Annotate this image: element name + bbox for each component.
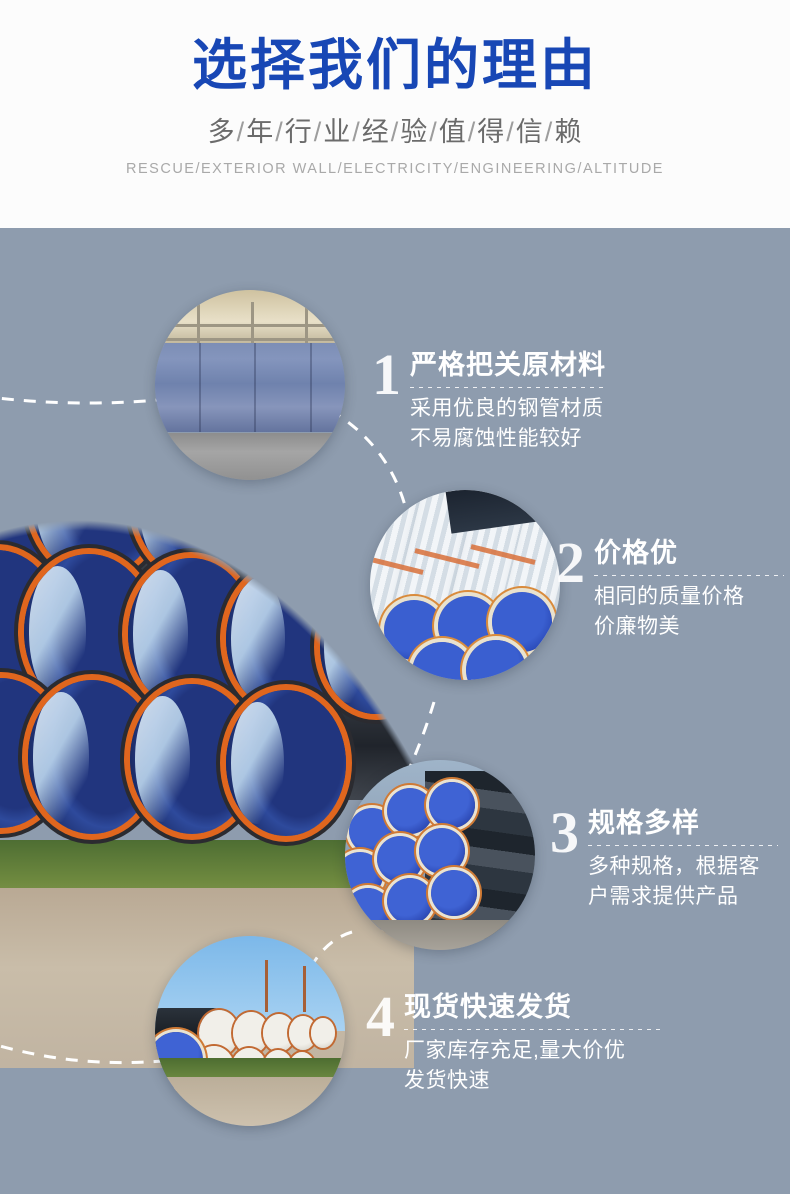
feature-image-3-content: [345, 760, 535, 950]
subtitle-char-1: 年: [246, 117, 274, 147]
subtitle-char-8: 信: [516, 117, 544, 147]
feature-block-2: 2 价格优 相同的质量价格 价廉物美: [556, 536, 790, 642]
subtitle-char-9: 赖: [554, 117, 582, 147]
feature-image-2-content: [370, 490, 560, 680]
subtitle-char-4: 经: [362, 117, 390, 147]
page-title: 选择我们的理由: [192, 34, 598, 96]
pipe-end: [387, 788, 433, 834]
feature-block-3: 3 规格多样 多种规格，根据客 户需求提供产品: [550, 806, 790, 912]
feature-desc-3-line-2: 户需求提供产品: [588, 882, 778, 912]
pipe-end: [419, 828, 465, 874]
feature-desc-2-line-1: 相同的质量价格: [594, 582, 784, 612]
steel-coil: [155, 343, 345, 432]
subtitle-char-5: 验: [400, 117, 428, 147]
warehouse-floor: [155, 433, 345, 481]
feature-image-4-content: [155, 936, 345, 1126]
feature-title-1: 严格把关原材料: [410, 350, 606, 380]
pipe-end: [387, 878, 433, 924]
subtitle-char-2: 行: [285, 117, 313, 147]
feature-desc-4-line-1: 厂家库存充足,量大价优: [404, 1036, 662, 1066]
subtitle-sep-6: /: [467, 117, 478, 147]
feature-number-3: 3: [550, 806, 579, 860]
feature-block-4: 4 现货快速发货 厂家库存充足,量大价优 发货快速: [366, 990, 666, 1096]
feature-image-1[interactable]: [155, 290, 345, 480]
pipe-end: [429, 782, 475, 828]
feature-desc-1-line-1: 采用优良的钢管材质: [410, 394, 606, 424]
feature-desc-4-line-2: 发货快速: [404, 1066, 662, 1096]
feature-desc-2-line-2: 价廉物美: [594, 612, 784, 642]
subtitle-sep-1: /: [274, 117, 285, 147]
feature-text-1: 严格把关原材料 采用优良的钢管材质 不易腐蚀性能较好: [410, 348, 606, 454]
pipe-end: [377, 836, 423, 882]
feature-number-4: 4: [366, 990, 395, 1044]
subtitle-sep-7: /: [505, 117, 516, 147]
feature-text-3: 规格多样 多种规格，根据客 户需求提供产品: [588, 806, 778, 912]
feature-block-1: 1 严格把关原材料 采用优良的钢管材质 不易腐蚀性能较好: [372, 348, 672, 454]
subtitle-char-0: 多: [208, 117, 236, 147]
roof-post: [197, 304, 200, 344]
subtitle-sep-8: /: [544, 117, 555, 147]
roof-post: [251, 302, 254, 346]
roof-post: [305, 304, 308, 346]
feature-number-2: 2: [556, 536, 585, 590]
photo-road: [155, 1077, 345, 1126]
pipe-end: [226, 690, 346, 836]
feature-title-4: 现货快速发货: [404, 992, 662, 1022]
feature-image-4[interactable]: [155, 936, 345, 1126]
roof-beam: [155, 338, 345, 341]
pipe-end: [311, 1018, 335, 1048]
feature-image-3[interactable]: [345, 760, 535, 950]
feature-number-1: 1: [372, 348, 401, 402]
subtitle-sep-5: /: [428, 117, 439, 147]
feature-title-2: 价格优: [594, 538, 784, 568]
subtitle-sep-0: /: [236, 117, 247, 147]
gravel-ground: [345, 920, 535, 950]
feature-divider-1: [410, 387, 606, 388]
feature-image-1-content: [155, 290, 345, 480]
promo-page: 选择我们的理由 多/年/行/业/经/验/值/得/信/赖 RESCUE/EXTER…: [0, 0, 790, 1194]
page-header: 选择我们的理由 多/年/行/业/经/验/值/得/信/赖 RESCUE/EXTER…: [0, 0, 790, 228]
feature-image-2[interactable]: [370, 490, 560, 680]
subtitle-char-3: 业: [323, 117, 351, 147]
subtitle-sep-3: /: [351, 117, 362, 147]
feature-desc-3-line-1: 多种规格，根据客: [588, 852, 778, 882]
header-subtitle: 多/年/行/业/经/验/值/得/信/赖: [208, 116, 583, 148]
roof-beam: [155, 324, 345, 327]
feature-divider-2: [594, 575, 784, 576]
feature-desc-1-line-2: 不易腐蚀性能较好: [410, 424, 606, 454]
subtitle-sep-4: /: [390, 117, 401, 147]
subtitle-char-6: 值: [439, 117, 467, 147]
feature-text-4: 现货快速发货 厂家库存充足,量大价优 发货快速: [404, 990, 662, 1096]
subtitle-sep-2: /: [313, 117, 324, 147]
features-panel: 1 严格把关原材料 采用优良的钢管材质 不易腐蚀性能较好 2 价格优 相同的质量…: [0, 228, 790, 1194]
subtitle-char-7: 得: [477, 117, 505, 147]
feature-divider-3: [588, 845, 778, 846]
pipe-end: [431, 870, 477, 916]
feature-title-3: 规格多样: [588, 808, 778, 838]
header-english-tagline: RESCUE/EXTERIOR WALL/ELECTRICITY/ENGINEE…: [126, 161, 664, 178]
feature-divider-4: [404, 1029, 662, 1030]
feature-text-2: 价格优 相同的质量价格 价廉物美: [594, 536, 784, 642]
